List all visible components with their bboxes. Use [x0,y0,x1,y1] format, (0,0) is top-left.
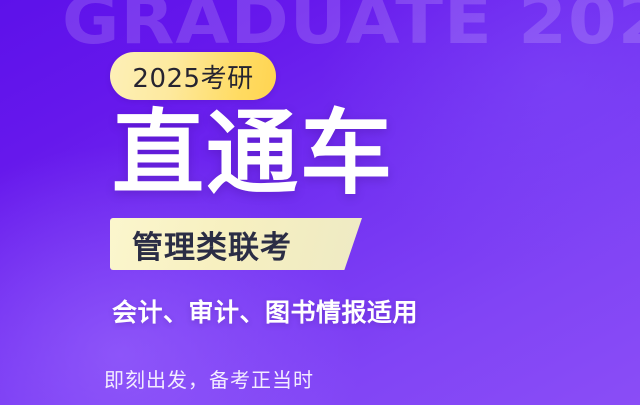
watermark-headline: GRADUATE 2025 [62,0,640,54]
applicable-majors-text: 会计、审计、图书情报适用 [112,293,418,329]
exam-year-badge-label: 2025考研 [132,58,253,95]
tagline-text: 即刻出发，备考正当时 [104,364,314,393]
category-banner-label: 管理类联考 [132,222,292,267]
promo-poster: GRADUATE 2025 2025考研 直通车 管理类联考 会计、审计、图书情… [0,0,640,405]
category-banner: 管理类联考 [110,218,362,270]
page-title: 直通车 [112,108,394,200]
exam-year-badge: 2025考研 [110,52,276,100]
